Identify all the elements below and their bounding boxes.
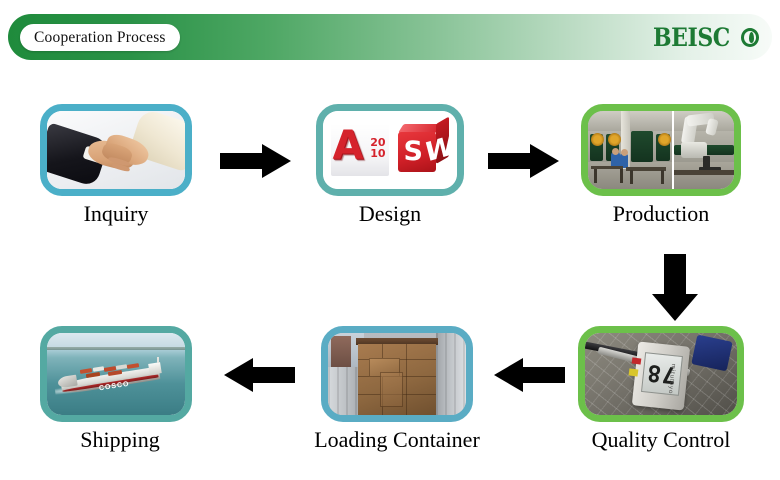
arrow-quality-control-to-loading-container — [494, 356, 566, 399]
step-quality-control-label: Quality Control — [578, 427, 744, 452]
logo-leaf-o-icon — [741, 25, 764, 50]
step-loading-container-thumbnail[interactable] — [321, 326, 473, 422]
autocad-year: 20 10 — [370, 137, 385, 159]
digital-caliper-photo: 78 mitutoyo — [585, 333, 737, 415]
page-title: Cooperation Process — [34, 29, 166, 47]
step-design-thumbnail[interactable]: A 20 10 S W — [316, 104, 464, 196]
packed-shipping-container-photo — [328, 333, 466, 415]
step-shipping[interactable]: COSCO Shipping — [40, 326, 200, 452]
beisco-logo: BEISC — [653, 22, 764, 52]
step-production[interactable]: Production — [581, 104, 741, 226]
arrow-right-icon — [488, 142, 560, 180]
factory-and-robot-photo — [588, 111, 734, 189]
autocad-letter: A — [333, 126, 364, 166]
step-loading-container[interactable]: Loading Container — [314, 326, 480, 452]
arrow-down-icon — [646, 254, 704, 322]
step-design-label: Design — [316, 201, 464, 226]
step-inquiry-thumbnail[interactable] — [40, 104, 192, 196]
autocad-year-bottom: 10 — [370, 147, 385, 160]
step-inquiry-label: Inquiry — [40, 201, 192, 226]
arrow-production-to-quality-control — [646, 254, 704, 327]
step-design[interactable]: A 20 10 S W Design — [316, 104, 464, 226]
step-inquiry[interactable]: Inquiry — [40, 104, 192, 226]
page-title-pill: Cooperation Process — [20, 24, 180, 51]
cooperation-process-infographic: Cooperation Process BEISC — [0, 0, 780, 480]
handshake-photo — [47, 111, 185, 189]
cad-software-logos: A 20 10 S W — [323, 111, 457, 189]
step-production-label: Production — [581, 201, 741, 226]
step-loading-container-label: Loading Container — [314, 427, 480, 452]
step-production-thumbnail[interactable] — [581, 104, 741, 196]
step-quality-control[interactable]: 78 mitutoyo Quality Control — [578, 326, 744, 452]
solidworks-logo-icon: S W — [398, 124, 450, 176]
logo-leaf-shape — [749, 32, 754, 43]
arrow-left-icon — [224, 356, 296, 394]
arrow-left-icon — [494, 356, 566, 394]
logo-wordmark: BEISC — [653, 23, 730, 52]
step-shipping-thumbnail[interactable]: COSCO — [40, 326, 192, 422]
arrow-inquiry-to-design — [220, 142, 292, 185]
solidworks-s: S — [404, 138, 423, 165]
container-ship-photo: COSCO — [47, 333, 185, 415]
step-quality-control-thumbnail[interactable]: 78 mitutoyo — [578, 326, 744, 422]
arrow-loading-container-to-shipping — [224, 356, 296, 399]
arrow-design-to-production — [488, 142, 560, 185]
solidworks-w: W — [425, 132, 455, 168]
autocad-logo-icon: A 20 10 — [331, 124, 389, 176]
arrow-right-icon — [220, 142, 292, 180]
step-shipping-label: Shipping — [40, 427, 200, 452]
